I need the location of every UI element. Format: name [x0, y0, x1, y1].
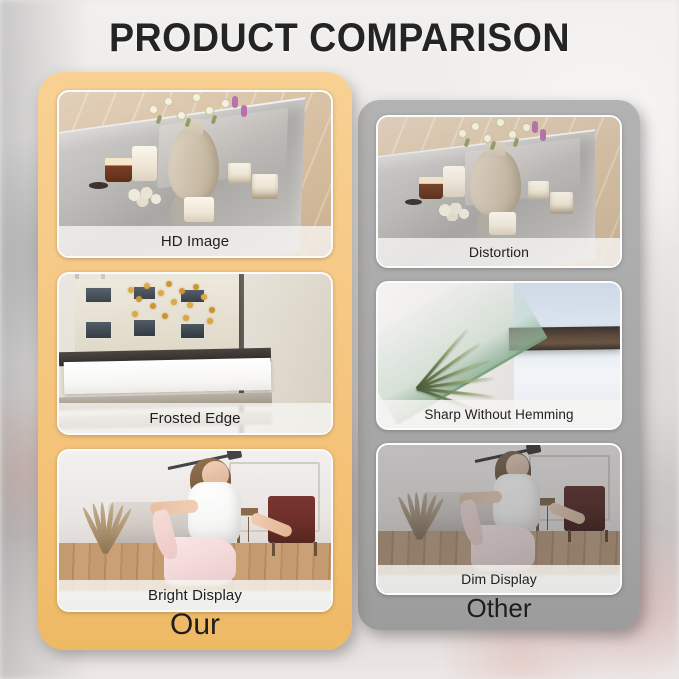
torso-white-shirt	[188, 482, 241, 543]
card-label: Distortion	[378, 238, 620, 266]
window-opening	[75, 274, 244, 360]
our-product-panel: HD Image	[38, 72, 352, 650]
other-product-panel: Distortion Sharp Without Hemming	[358, 100, 640, 630]
white-pillar-candle	[443, 166, 465, 197]
our-card-list: HD Image	[38, 72, 352, 612]
our-panel-name: Our	[38, 608, 352, 642]
ceramic-vase	[168, 128, 220, 200]
autumn-foliage	[123, 276, 221, 336]
card-label: Sharp Without Hemming	[378, 400, 620, 428]
white-pillar-candle	[132, 146, 156, 180]
card-bright-display[interactable]: Bright Display	[57, 449, 333, 612]
amber-candle	[419, 177, 443, 199]
card-distortion[interactable]: Distortion	[376, 115, 622, 268]
amber-candle	[105, 158, 132, 183]
votive-candle-2	[550, 192, 573, 214]
card-hd-image[interactable]: HD Image	[57, 90, 333, 258]
ceramic-vase	[469, 150, 520, 216]
pampas-grass	[75, 473, 129, 553]
small-object	[405, 199, 422, 205]
card-sharp-without-hemming[interactable]: Sharp Without Hemming	[376, 281, 622, 430]
votive-candle-1	[528, 181, 549, 200]
votive-candle-1	[228, 163, 251, 184]
page-title: PRODUCT COMPARISON	[20, 16, 658, 61]
flower-bouquet	[451, 117, 557, 156]
stone-decor	[124, 187, 165, 207]
pampas-grass	[393, 466, 441, 540]
card-label: Frosted Edge	[59, 403, 331, 433]
card-label: HD Image	[59, 226, 331, 256]
other-card-list: Distortion Sharp Without Hemming	[358, 100, 640, 595]
other-panel-name: Other	[358, 593, 640, 624]
short-candle	[184, 197, 214, 222]
small-object	[89, 182, 108, 189]
flower-bouquet	[141, 92, 261, 135]
frosted-mirror-edge	[64, 358, 271, 394]
card-label: Bright Display	[59, 580, 331, 610]
votive-candle-2	[252, 174, 278, 199]
short-candle	[489, 212, 516, 234]
stone-decor	[436, 203, 472, 221]
card-frosted-edge[interactable]: Frosted Edge	[57, 272, 333, 435]
torso-white-shirt	[493, 474, 540, 531]
card-dim-display[interactable]: Dim Display	[376, 443, 622, 595]
card-label: Dim Display	[378, 565, 620, 593]
cut-blade-fan	[417, 306, 553, 390]
